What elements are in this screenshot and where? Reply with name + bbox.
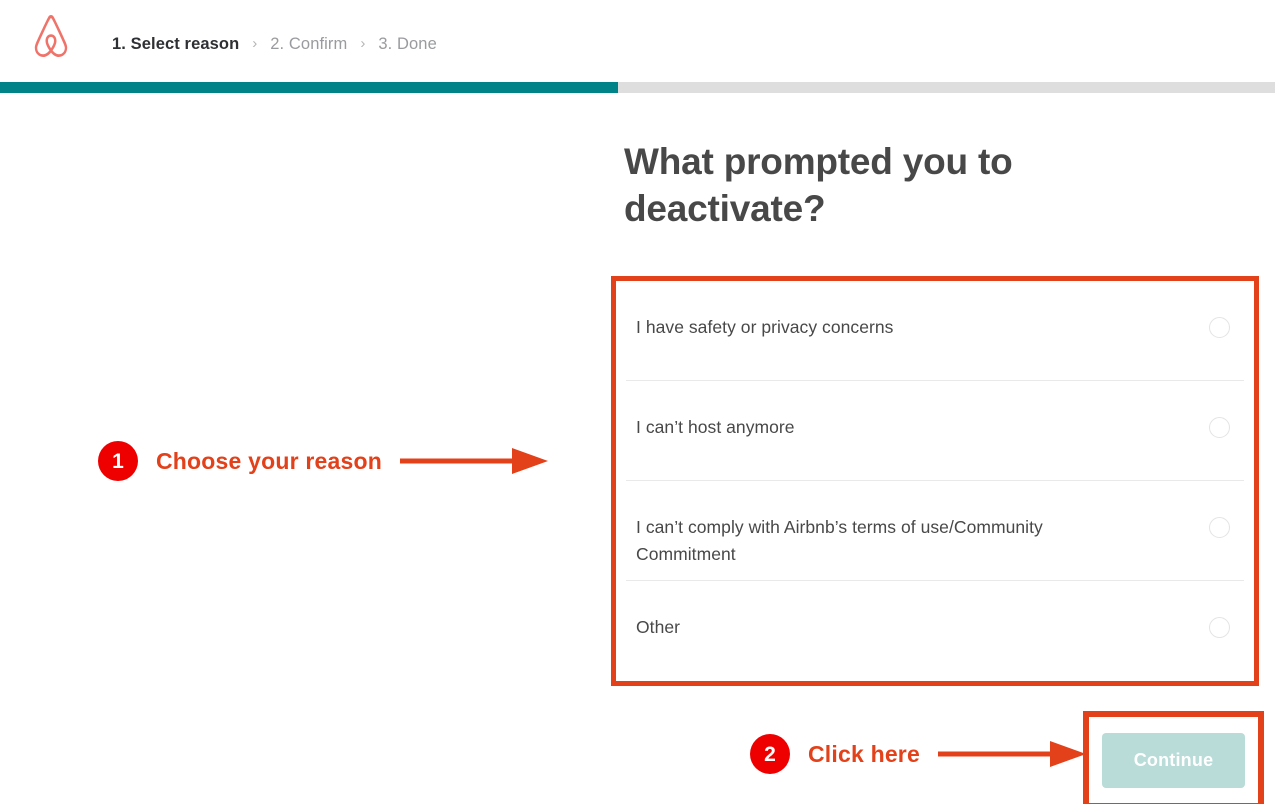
reason-option-cannot-comply[interactable]: I can’t comply with Airbnb’s terms of us… [626, 481, 1244, 581]
continue-button[interactable]: Continue [1102, 733, 1245, 788]
annotation-step-2: 2 Click here [750, 734, 1086, 774]
annotation-arrow-right-icon [938, 737, 1086, 771]
airbnb-deactivate-page: 1. Select reason › 2. Confirm › 3. Done … [0, 0, 1275, 804]
reason-option-safety-privacy[interactable]: I have safety or privacy concerns [626, 281, 1244, 381]
page-title: What prompted you to deactivate? [624, 138, 1094, 232]
breadcrumb-chevron-icon: › [360, 31, 365, 57]
reason-options-group: I have safety or privacy concerns I can’… [611, 276, 1259, 686]
annotation-badge-2: 2 [750, 734, 790, 774]
annotation-step-1: 1 Choose your reason [98, 441, 548, 481]
radio-button-icon[interactable] [1209, 317, 1230, 338]
radio-button-icon[interactable] [1209, 417, 1230, 438]
reason-option-other[interactable]: Other [626, 581, 1244, 681]
reason-option-label: I can’t host anymore [636, 414, 795, 441]
annotation-label-1: Choose your reason [156, 448, 382, 475]
annotation-label-2: Click here [808, 741, 920, 768]
breadcrumb-step-select-reason[interactable]: 1. Select reason [112, 31, 239, 57]
reason-option-label: I have safety or privacy concerns [636, 314, 893, 341]
breadcrumb-step-confirm[interactable]: 2. Confirm [270, 31, 347, 57]
reason-option-label: I can’t comply with Airbnb’s terms of us… [636, 514, 1136, 568]
airbnb-logo-icon[interactable] [28, 12, 74, 62]
reason-options-list: I have safety or privacy concerns I can’… [616, 281, 1254, 681]
continue-button-area: Continue [1083, 711, 1264, 804]
progress-bar-fill [0, 82, 618, 93]
reason-option-label: Other [636, 614, 680, 641]
progress-bar-track [0, 82, 1275, 93]
annotation-arrow-right-icon [400, 444, 548, 478]
breadcrumb: 1. Select reason › 2. Confirm › 3. Done [112, 31, 437, 57]
annotation-badge-1: 1 [98, 441, 138, 481]
reason-option-cannot-host[interactable]: I can’t host anymore [626, 381, 1244, 481]
page-header: 1. Select reason › 2. Confirm › 3. Done [0, 0, 1275, 86]
radio-button-icon[interactable] [1209, 517, 1230, 538]
breadcrumb-chevron-icon: › [252, 31, 257, 57]
breadcrumb-step-done[interactable]: 3. Done [378, 31, 437, 57]
radio-button-icon[interactable] [1209, 617, 1230, 638]
